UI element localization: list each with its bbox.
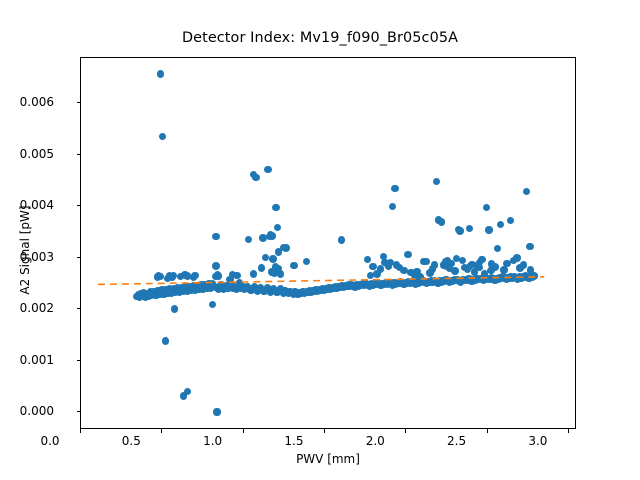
x-tick-label: 0.5	[101, 434, 161, 448]
x-tick-label: 0.0	[20, 434, 80, 448]
scatter-point	[404, 251, 411, 258]
scatter-point	[400, 267, 407, 274]
scatter-point	[269, 255, 276, 262]
x-tick-mark	[324, 429, 325, 433]
y-tick-label: 0.006	[0, 95, 54, 109]
scatter-data-layer	[81, 58, 575, 428]
scatter-point	[209, 301, 216, 308]
scatter-point	[520, 261, 527, 268]
scatter-point	[494, 245, 501, 252]
scatter-point	[212, 262, 219, 269]
scatter-point	[478, 256, 485, 263]
scatter-point	[377, 265, 384, 272]
x-tick-label: 2.5	[427, 434, 487, 448]
matplotlib-figure: Detector Index: Mv19_f090_Br05c05A A2 Si…	[0, 0, 640, 480]
scatter-point	[159, 133, 166, 140]
x-tick-mark	[80, 429, 81, 433]
scatter-point	[416, 273, 423, 280]
scatter-point	[523, 188, 530, 195]
scatter-point	[389, 203, 396, 210]
scatter-point	[438, 218, 445, 225]
scatter-point	[526, 243, 533, 250]
scatter-point	[157, 70, 164, 77]
scatter-point	[250, 270, 257, 277]
scatter-point	[171, 305, 178, 312]
scatter-point	[214, 408, 221, 415]
x-tick-mark	[243, 429, 244, 433]
scatter-point	[497, 221, 504, 228]
scatter-point	[157, 273, 164, 280]
scatter-point	[338, 236, 345, 243]
scatter-point	[272, 204, 279, 211]
x-tick-mark	[161, 429, 162, 433]
y-tick-label: 0.003	[0, 250, 54, 264]
scatter-point	[485, 226, 492, 233]
scatter-point	[268, 232, 275, 239]
plot-axes-frame	[80, 57, 576, 429]
scatter-point	[191, 272, 198, 279]
scatter-point	[282, 244, 289, 251]
scatter-point	[364, 256, 371, 263]
scatter-point	[483, 204, 490, 211]
scatter-point	[487, 267, 494, 274]
scatter-point	[500, 266, 507, 273]
scatter-point	[507, 217, 514, 224]
scatter-point	[369, 263, 376, 270]
scatter-point	[391, 185, 398, 192]
scatter-point	[513, 254, 520, 261]
scatter-point	[217, 281, 224, 288]
x-tick-label: 1.0	[183, 434, 243, 448]
scatter-point	[262, 254, 269, 261]
y-tick-label: 0.002	[0, 301, 54, 315]
y-tick-label: 0.001	[0, 353, 54, 367]
scatter-point	[212, 233, 219, 240]
scatter-point	[527, 266, 534, 273]
x-tick-mark	[487, 429, 488, 433]
y-tick-label: 0.005	[0, 147, 54, 161]
x-tick-label: 3.0	[508, 434, 568, 448]
page-title: Detector Index: Mv19_f090_Br05c05A	[0, 30, 640, 46]
scatter-point	[184, 388, 191, 395]
scatter-point	[431, 261, 438, 268]
scatter-point	[290, 262, 297, 269]
scatter-point	[274, 224, 281, 231]
x-tick-label: 2.0	[345, 434, 405, 448]
scatter-point	[466, 225, 473, 232]
scatter-point	[451, 267, 458, 274]
scatter-point	[264, 166, 271, 173]
y-tick-label: 0.000	[0, 404, 54, 418]
x-tick-label: 1.5	[264, 434, 324, 448]
scatter-point	[456, 227, 463, 234]
x-axis-label: PWV [mm]	[80, 452, 576, 466]
scatter-point	[245, 236, 252, 243]
scatter-point	[433, 178, 440, 185]
scatter-point	[423, 258, 430, 265]
y-tick-label: 0.004	[0, 198, 54, 212]
scatter-point	[252, 174, 259, 181]
scatter-point	[303, 258, 310, 265]
x-tick-mark	[405, 429, 406, 433]
scatter-point	[258, 264, 265, 271]
x-tick-mark	[568, 429, 569, 433]
scatter-point	[162, 337, 169, 344]
scatter-point	[215, 272, 222, 279]
